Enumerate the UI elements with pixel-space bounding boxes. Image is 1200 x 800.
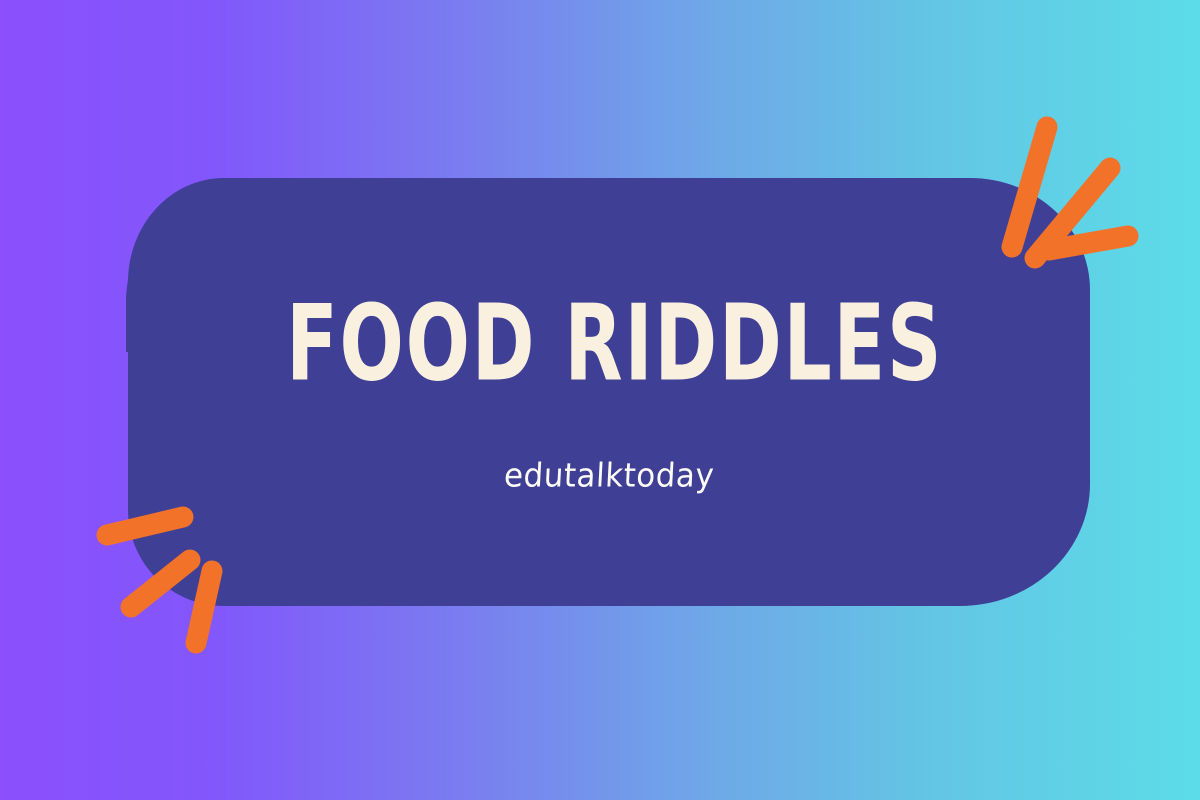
poster-canvas: FOOD RIDDLES edutalktoday — [0, 0, 1200, 800]
card-text-group: FOOD RIDDLES edutalktoday — [128, 178, 1090, 606]
poster-title: FOOD RIDDLES — [275, 291, 943, 396]
poster-subtitle-brand: edutalktoday — [503, 460, 715, 493]
